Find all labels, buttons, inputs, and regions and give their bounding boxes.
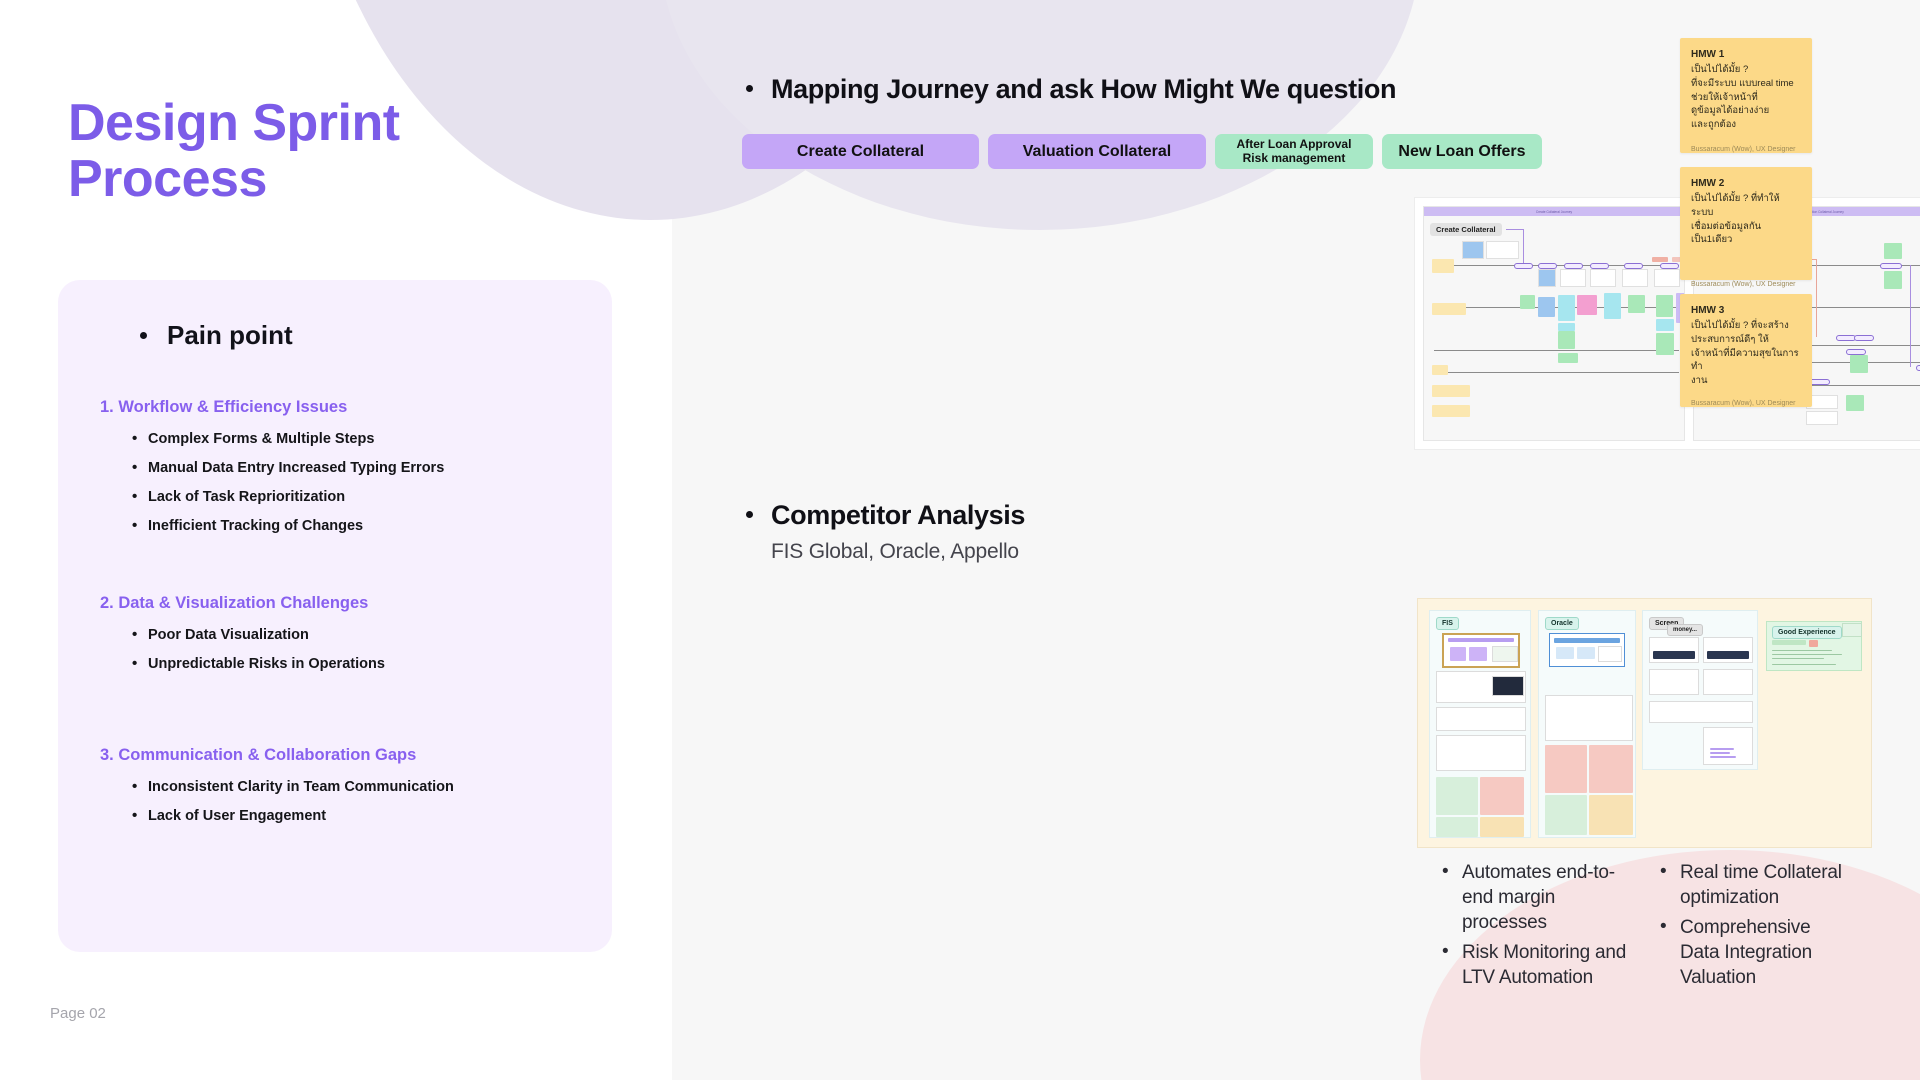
- left-column: Design Sprint Process Pain point 1. Work…: [0, 0, 672, 1080]
- pain-point-heading-label: Pain point: [167, 320, 293, 350]
- competitor-analysis-board[interactable]: Key Feature How Margin call work Good to…: [1417, 598, 1872, 848]
- pain-point-heading: Pain point: [140, 320, 293, 351]
- pain-group-2-list: Poor Data Visualization Unpredictable Ri…: [100, 628, 600, 673]
- tab-label: Valuation Collateral: [1023, 143, 1171, 161]
- hmw-note-1-title: HMW 1: [1691, 49, 1801, 60]
- page-title: Design Sprint Process: [68, 95, 588, 207]
- competitor-column-screen[interactable]: Screen money...: [1642, 610, 1758, 770]
- competitor-analysis-header: Competitor Analysis FIS Global, Oracle, …: [746, 500, 1025, 564]
- hmw-note-3-author: Bussaracum (Wow), UX Designer: [1691, 400, 1801, 407]
- label-fis: FIS: [1436, 617, 1459, 630]
- pain-group-2-title: 2. Data & Visualization Challenges: [100, 594, 600, 613]
- hmw-line: เป็น1เดียว: [1691, 233, 1801, 247]
- hmw-note-2-author: Bussaracum (Wow), UX Designer: [1691, 281, 1801, 288]
- list-item: Automates end-to-end margin processes: [1440, 860, 1630, 935]
- bullet-dot-icon: [746, 511, 753, 518]
- tab-valuation-collateral[interactable]: Valuation Collateral: [988, 134, 1206, 169]
- competitor-bullets: Automates end-to-end margin processes Ri…: [1440, 860, 1860, 995]
- hmw-note-3[interactable]: HMW 3 เป็นไปได้มั้ย ? ที่จะสร้าง ประสบกา…: [1680, 294, 1812, 407]
- mapping-journey-title: Mapping Journey and ask How Might We que…: [746, 74, 1396, 105]
- hmw-note-2[interactable]: HMW 2 เป็นไปได้มั้ย ? ที่ทำให้ระบบ เชื่อ…: [1680, 167, 1812, 280]
- page-title-line-1: Design Sprint: [68, 95, 588, 151]
- list-item: Lack of Task Reprioritization: [148, 490, 600, 506]
- bullet-dot-icon: [140, 332, 147, 339]
- pain-group-1: 1. Workflow & Efficiency Issues Complex …: [100, 398, 600, 548]
- list-item: Risk Monitoring and LTV Automation: [1440, 940, 1630, 990]
- hmw-line: เป็นไปได้มั้ย ?: [1691, 63, 1801, 77]
- journey-chip-create-collateral: Create Collateral: [1430, 223, 1502, 236]
- competitor-analysis-subtitle: FIS Global, Oracle, Appello: [771, 540, 1025, 564]
- list-item: Lack of User Engagement: [148, 809, 600, 825]
- list-item: Manual Data Entry Increased Typing Error…: [148, 461, 600, 477]
- hmw-line: และถูกต้อง: [1691, 118, 1801, 132]
- list-item: Poor Data Visualization: [148, 628, 600, 644]
- bullet-dot-icon: [746, 85, 753, 92]
- list-item: Comprehensive Data Integration Valuation: [1658, 915, 1848, 990]
- hmw-note-3-title: HMW 3: [1691, 305, 1801, 316]
- list-item: Complex Forms & Multiple Steps: [148, 432, 600, 448]
- competitor-column-fis[interactable]: Key Feature How Margin call work Good to…: [1429, 610, 1531, 838]
- tab-new-loan-offers[interactable]: New Loan Offers: [1382, 134, 1542, 169]
- page-title-line-2: Process: [68, 151, 588, 207]
- hmw-note-3-body: เป็นไปได้มั้ย ? ที่จะสร้าง ประสบการณ์ดีๆ…: [1691, 319, 1801, 388]
- hmw-note-2-body: เป็นไปได้มั้ย ? ที่ทำให้ระบบ เชื่อมต่อข้…: [1691, 192, 1801, 247]
- pain-group-1-title: 1. Workflow & Efficiency Issues: [100, 398, 600, 417]
- right-column: Mapping Journey and ask How Might We que…: [672, 0, 1920, 1080]
- journey-panel-caption: Create Collateral Journey: [1424, 207, 1684, 216]
- hmw-line: ประสบการณ์ดีๆ ให้: [1691, 333, 1801, 347]
- list-item: Real time Collateral optimization: [1658, 860, 1848, 910]
- hmw-note-2-title: HMW 2: [1691, 178, 1801, 189]
- hmw-line: ช่วยให้เจ้าหน้าที่: [1691, 91, 1801, 105]
- hmw-line: ที่จะมีระบบ แบบreal time: [1691, 77, 1801, 91]
- tab-label-line-1: After Loan Approval: [1237, 138, 1352, 152]
- hmw-notes-column: HMW 1 เป็นไปได้มั้ย ? ที่จะมีระบบ แบบrea…: [1680, 38, 1812, 421]
- pain-group-3-list: Inconsistent Clarity in Team Communicati…: [100, 780, 600, 825]
- hmw-note-1-body: เป็นไปได้มั้ย ? ที่จะมีระบบ แบบreal time…: [1691, 63, 1801, 132]
- label-screen-money: money...: [1667, 624, 1703, 636]
- pain-group-3-title: 3. Communication & Collaboration Gaps: [100, 746, 600, 765]
- competitor-analysis-title: Competitor Analysis: [746, 500, 1025, 531]
- journey-panel-create-collateral[interactable]: Create Collateral Journey Create Collate…: [1423, 206, 1685, 441]
- mapping-journey-title-label: Mapping Journey and ask How Might We que…: [771, 74, 1396, 104]
- hmw-line: เป็นไปได้มั้ย ? ที่จะสร้าง: [1691, 319, 1801, 333]
- tab-create-collateral[interactable]: Create Collateral: [742, 134, 979, 169]
- pain-group-3: 3. Communication & Collaboration Gaps In…: [100, 746, 600, 838]
- hmw-line: เป็นไปได้มั้ย ? ที่ทำให้ระบบ: [1691, 192, 1801, 220]
- list-item: Inconsistent Clarity in Team Communicati…: [148, 780, 600, 796]
- hmw-line: เชื่อมต่อข้อมูลกัน: [1691, 220, 1801, 234]
- label-good-experience: Good Experience: [1772, 626, 1842, 639]
- page-number: Page 02: [50, 1005, 106, 1022]
- hmw-line: งาน: [1691, 374, 1801, 388]
- list-item: Unpredictable Risks in Operations: [148, 657, 600, 673]
- competitor-column-oracle[interactable]: Key Feature Oracle: [1538, 610, 1636, 838]
- list-item: Inefficient Tracking of Changes: [148, 519, 600, 535]
- hmw-line: ดูข้อมูลได้อย่างง่าย: [1691, 104, 1801, 118]
- pain-group-2: 2. Data & Visualization Challenges Poor …: [100, 594, 600, 686]
- competitor-bullets-right: Real time Collateral optimization Compre…: [1658, 860, 1848, 995]
- tab-label: New Loan Offers: [1398, 143, 1525, 161]
- journey-stage-tabs: Create Collateral Valuation Collateral A…: [742, 134, 1542, 169]
- pain-group-1-list: Complex Forms & Multiple Steps Manual Da…: [100, 432, 600, 535]
- journey-map-board[interactable]: Create Collateral Journey Create Collate…: [1414, 197, 1920, 450]
- hmw-line: เจ้าหน้าที่มีความสุขในการทำ: [1691, 347, 1801, 375]
- tab-label: Create Collateral: [797, 143, 924, 161]
- hmw-note-1-author: Bussaracum (Wow), UX Designer: [1691, 146, 1801, 153]
- competitor-bullets-left: Automates end-to-end margin processes Ri…: [1440, 860, 1630, 995]
- label-oracle: Oracle: [1545, 617, 1579, 630]
- competitor-analysis-title-label: Competitor Analysis: [771, 500, 1025, 530]
- tab-after-loan-approval[interactable]: After Loan Approval Risk management: [1215, 134, 1373, 169]
- hmw-note-1[interactable]: HMW 1 เป็นไปได้มั้ย ? ที่จะมีระบบ แบบrea…: [1680, 38, 1812, 153]
- tab-label-line-2: Risk management: [1243, 152, 1346, 166]
